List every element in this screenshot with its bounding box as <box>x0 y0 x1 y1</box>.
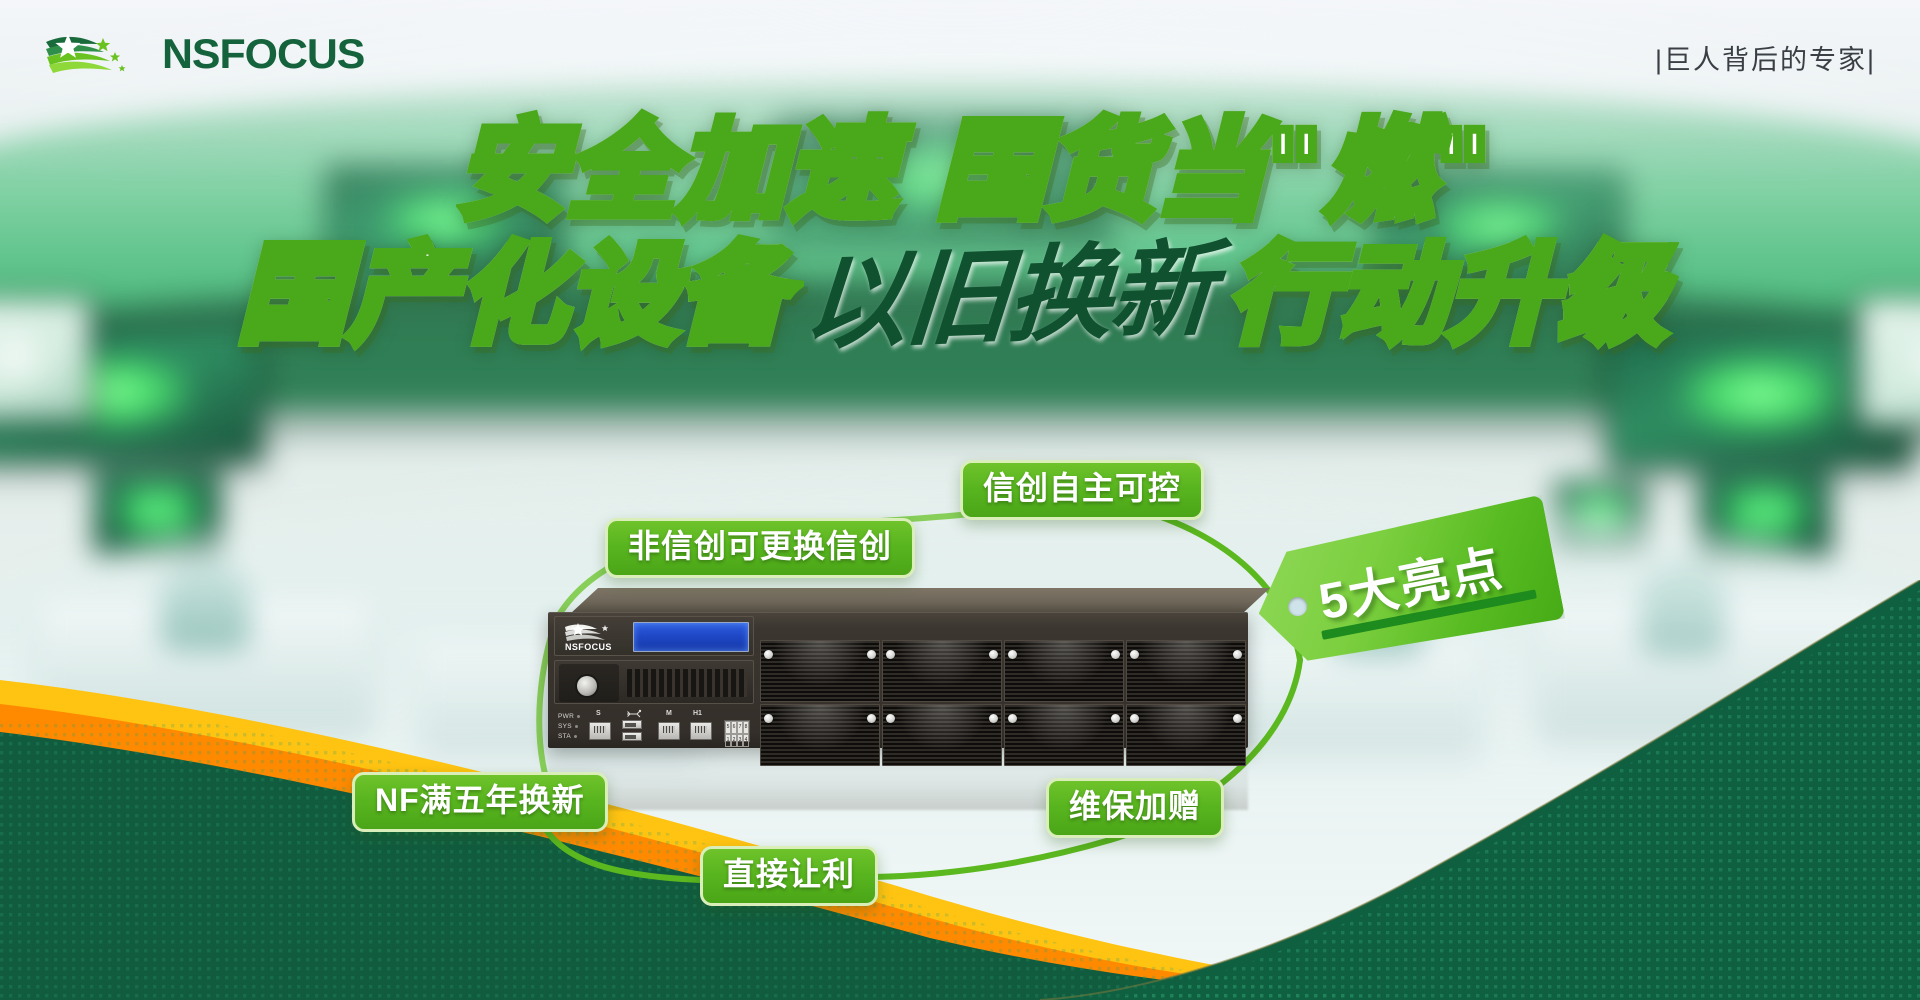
port-label-s: S <box>596 710 601 717</box>
dip-switch-block: 5678 1234 <box>724 720 750 742</box>
dip-4: 4 <box>743 734 749 747</box>
port-label-h1: H1 <box>693 710 702 717</box>
drive-bay-panel <box>1126 640 1246 702</box>
drive-bay-panel <box>760 640 880 702</box>
chassis-front: NSFOCUS PWR SYS STA S <box>548 612 1248 748</box>
chassis-top <box>570 588 1270 614</box>
badge-xinchuang-autonomous[interactable]: 信创自主可控 <box>960 460 1204 520</box>
bay-vent-grille <box>627 669 747 697</box>
rj45-port-h1 <box>690 722 712 740</box>
headline-block: 安全加速 国货当"燃" 国产化设备 以旧换新 行动升级 <box>0 118 1920 350</box>
brand-logo[interactable]: NSFOCUS <box>42 30 362 78</box>
front-bezel: NSFOCUS <box>554 616 754 656</box>
promotional-banner: NSFOCUS |巨人背后的专家| 安全加速 国货当"燃" 国产化设备 以旧换新… <box>0 0 1920 1000</box>
rj45-port-m <box>658 722 680 740</box>
lcd-display <box>633 622 749 652</box>
drive-bay-panel <box>1004 640 1124 702</box>
server-appliance: NSFOCUS PWR SYS STA S <box>548 588 1288 768</box>
dip-8: 8 <box>743 721 749 734</box>
usb-port-top <box>622 720 642 729</box>
badge-replace-with-xinchuang[interactable]: 非信创可更换信创 <box>605 518 915 578</box>
svg-text:NSFOCUS: NSFOCUS <box>565 642 612 652</box>
bay-lock-icon <box>577 676 597 696</box>
headline-calligraphy: 以旧换新 <box>790 237 1227 356</box>
brand-logo-text: NSFOCUS <box>162 30 364 78</box>
headline-line-2-prefix: 国产化设备 <box>238 242 788 350</box>
bay-handle <box>559 664 619 702</box>
badge-maintenance-bonus[interactable]: 维保加赠 <box>1046 778 1224 838</box>
headline-line-2: 国产化设备 以旧换新 行动升级 <box>0 242 1920 350</box>
io-port-row: PWR SYS STA S M H1 <box>556 708 754 748</box>
front-control-panel: NSFOCUS PWR SYS STA S <box>554 616 754 744</box>
nsfocus-flag-star-logo <box>42 30 150 78</box>
drive-bay-panel <box>882 640 1002 702</box>
port-label-m: M <box>666 710 672 717</box>
brand-tagline: |巨人背后的专家| <box>1655 38 1876 77</box>
usb-icon <box>626 709 642 718</box>
badge-direct-discount[interactable]: 直接让利 <box>700 846 878 906</box>
header-bar: NSFOCUS |巨人背后的专家| <box>0 0 1920 104</box>
led-sys: SYS <box>558 722 580 732</box>
chassis-nsfocus-logo: NSFOCUS <box>561 621 627 653</box>
removable-drive-bay <box>554 660 754 704</box>
usb-port-bottom <box>622 732 642 741</box>
headline-line-1-text: 安全加速 国货当"燃" <box>457 118 1493 226</box>
led-sta: STA <box>558 732 580 742</box>
badge-nf-five-year-renew[interactable]: NF满五年换新 <box>352 772 608 832</box>
led-pwr: PWR <box>558 712 580 722</box>
rj45-port-s <box>589 722 611 740</box>
status-led-labels: PWR SYS STA <box>558 712 580 742</box>
headline-line-2-suffix: 行动升级 <box>1228 242 1668 350</box>
headline-line-1: 安全加速 国货当"燃" <box>30 118 1920 226</box>
